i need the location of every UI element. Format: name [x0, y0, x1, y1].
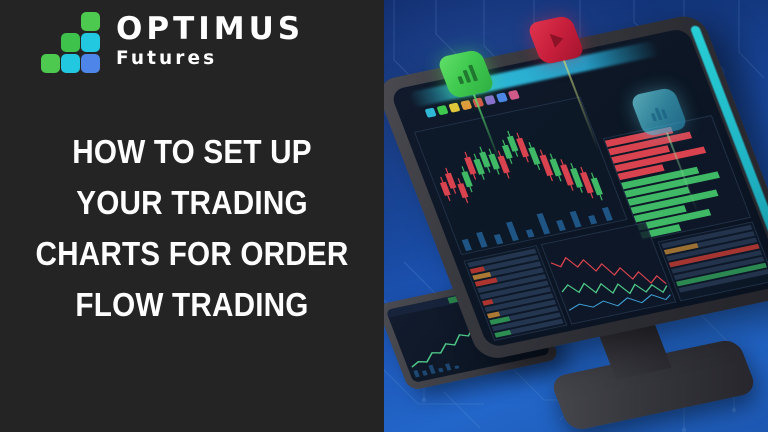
- toolbar-swatch[interactable]: [484, 95, 496, 105]
- title-panel: OPTIMUS Futures HOW TO SET UP YOUR TRADI…: [0, 0, 384, 432]
- volume-profile-pane[interactable]: [603, 115, 751, 241]
- video-thumbnail: OPTIMUS Futures HOW TO SET UP YOUR TRADI…: [0, 0, 768, 432]
- brand-subtitle: Futures: [116, 49, 304, 69]
- title-line-3: CHARTS FOR ORDER: [19, 228, 365, 279]
- bar-chart-icon: [450, 60, 482, 87]
- artwork-panel: [384, 0, 768, 432]
- toolbar-swatch[interactable]: [460, 100, 472, 110]
- toolbar-swatch[interactable]: [436, 105, 448, 115]
- candlestick-chart-pane[interactable]: [414, 97, 628, 256]
- toolbar-swatch[interactable]: [508, 90, 520, 100]
- play-icon: [541, 27, 571, 52]
- brand-text: OPTIMUS Futures: [116, 12, 304, 69]
- title-line-4: FLOW TRADING: [19, 279, 365, 330]
- page-title: HOW TO SET UP YOUR TRADING CHARTS FOR OR…: [0, 126, 384, 330]
- brand-name: OPTIMUS: [116, 14, 304, 45]
- optimus-futures-logo-icon: [40, 12, 102, 70]
- toolbar-swatch[interactable]: [496, 92, 508, 102]
- square-green-top: [81, 12, 100, 31]
- square-green-mid: [61, 33, 80, 52]
- analytics-icon: [644, 99, 674, 124]
- square-cyan-low: [61, 54, 80, 73]
- title-line-1: HOW TO SET UP: [19, 126, 365, 177]
- square-cyan-mid: [81, 33, 100, 52]
- toolbar-swatch[interactable]: [448, 102, 460, 112]
- square-blue-low: [81, 54, 100, 73]
- toolbar-swatch[interactable]: [425, 108, 437, 118]
- brand-lockup: OPTIMUS Futures: [40, 12, 304, 70]
- title-line-2: YOUR TRADING: [19, 177, 365, 228]
- square-green-low: [41, 54, 60, 73]
